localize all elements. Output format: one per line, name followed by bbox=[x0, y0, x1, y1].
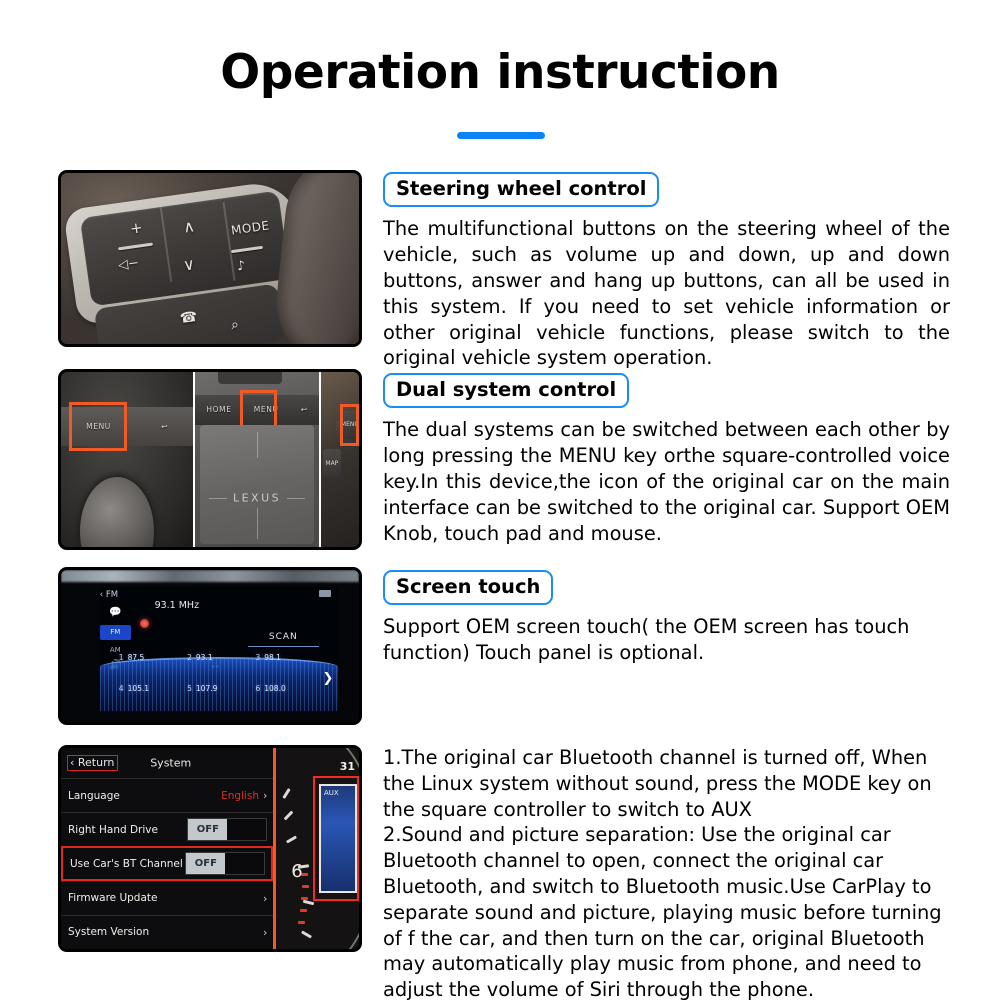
settings-row-system-version[interactable]: System Version › bbox=[61, 915, 273, 949]
section-body-steering-wheel: The multifunctional buttons on the steer… bbox=[383, 216, 950, 371]
phone-answer-icon: ☎ bbox=[179, 309, 199, 327]
touchpad-crosshair-right bbox=[287, 498, 305, 499]
page-title: Operation instruction bbox=[0, 45, 1000, 100]
bt-channel-toggle[interactable]: OFF bbox=[185, 852, 265, 875]
speech-icon[interactable]: 💬 bbox=[109, 608, 121, 618]
toggle-state-label: OFF bbox=[188, 819, 227, 840]
current-frequency: 93.1 MHz bbox=[155, 600, 200, 611]
tach-redline-tick bbox=[302, 885, 309, 888]
note-item-2: 2.Sound and picture separation: Use the … bbox=[383, 822, 950, 1003]
settings-menu-panel: ‹ Return System Language English › Right… bbox=[61, 748, 273, 949]
row-label: System Version bbox=[68, 926, 149, 938]
section-screen-touch: Screen touch Support OEM screen touch( t… bbox=[383, 570, 950, 666]
preset-frequency: 107.9 bbox=[196, 684, 217, 693]
settings-row-bt-channel[interactable]: Use Car's BT Channel OFF bbox=[61, 846, 273, 880]
touchpad-crosshair-left bbox=[209, 498, 227, 499]
preset-item: 293.1 bbox=[187, 653, 255, 662]
preset-grid[interactable]: 187.5 293.1 398.1 4105.1 5107.9 6108.0 bbox=[119, 642, 324, 704]
pane1-back-icon: ↩ bbox=[161, 422, 168, 431]
preset-item: 187.5 bbox=[119, 653, 187, 662]
touchpad-top-bezel bbox=[218, 372, 282, 384]
settings-row-firmware-update[interactable]: Firmware Update › bbox=[61, 881, 273, 915]
section-pill-dual-system: Dual system control bbox=[383, 373, 629, 408]
tach-redline-tick bbox=[301, 897, 308, 900]
home-button-label: HOME bbox=[206, 405, 231, 414]
menu-highlight-box-1 bbox=[69, 402, 127, 451]
dashboard-blur-strip bbox=[61, 570, 359, 582]
dual-system-pane-console: MAP MENU bbox=[321, 372, 359, 547]
menu-highlight-box-2 bbox=[240, 390, 277, 430]
row-value: English bbox=[221, 790, 259, 802]
photo-dual-system: MENU ↩ HOME MENU ↩ LEXUS bbox=[58, 369, 362, 550]
chevron-right-icon: › bbox=[263, 892, 267, 905]
section-bluetooth-notes: 1.The original car Bluetooth channel is … bbox=[383, 745, 950, 1003]
preset-item: 5107.9 bbox=[187, 684, 255, 693]
touchpad-crosshair-top bbox=[257, 432, 258, 458]
settings-header: ‹ Return System bbox=[61, 748, 273, 778]
preset-number: 3 bbox=[255, 653, 260, 662]
row-label: Right Hand Drive bbox=[68, 824, 158, 836]
preset-frequency: 108.0 bbox=[264, 684, 285, 693]
fm-back-label[interactable]: ‹ FM bbox=[100, 590, 118, 600]
settings-row-language[interactable]: Language English › bbox=[61, 778, 273, 812]
aux-highlight-box bbox=[313, 776, 359, 901]
preset-number: 1 bbox=[119, 653, 124, 662]
preset-frequency: 98.1 bbox=[264, 653, 281, 662]
preset-number: 5 bbox=[187, 684, 192, 693]
title-underline-rule bbox=[457, 132, 545, 139]
photo-screen-touch: ‹ FM 93.1 MHz 💬 FM AM 🔊 SCAN •• 187.5 29… bbox=[58, 567, 362, 725]
chevron-right-icon: › bbox=[263, 789, 267, 802]
map-button: MAP bbox=[323, 449, 341, 477]
chevron-right-icon: › bbox=[263, 926, 267, 939]
tuner-indicator-dot bbox=[140, 619, 149, 628]
preset-frequency: 87.5 bbox=[128, 653, 145, 662]
return-button[interactable]: ‹ Return bbox=[67, 755, 118, 771]
section-body-dual-system: The dual systems can be switched between… bbox=[383, 417, 950, 546]
volume-down-icon: ◁− bbox=[117, 255, 140, 273]
row-label: Firmware Update bbox=[68, 892, 158, 904]
lexus-brand-label: LEXUS bbox=[233, 492, 281, 505]
preset-number: 4 bbox=[119, 684, 124, 693]
tach-redline-tick bbox=[298, 921, 305, 924]
section-steering-wheel: Steering wheel control The multifunction… bbox=[383, 172, 950, 371]
dual-system-pane-knob: MENU ↩ bbox=[61, 372, 193, 547]
seek-down-chevron-icon: ∨ bbox=[182, 254, 196, 274]
preset-number: 2 bbox=[187, 653, 192, 662]
menu-highlight-box-3 bbox=[340, 404, 359, 446]
row-label: Use Car's BT Channel bbox=[70, 858, 183, 870]
section-pill-steering-wheel: Steering wheel control bbox=[383, 172, 659, 207]
seek-up-chevron-icon: ∧ bbox=[182, 217, 196, 237]
phone-hangup-icon: ⌕ bbox=[230, 316, 240, 333]
voice-command-icon: ♪ bbox=[236, 258, 246, 274]
section-dual-system: Dual system control The dual systems can… bbox=[383, 373, 950, 546]
back-button-icon: ↩ bbox=[301, 405, 308, 414]
section-pill-screen-touch: Screen touch bbox=[383, 570, 553, 605]
note-item-1: 1.The original car Bluetooth channel is … bbox=[383, 745, 950, 822]
instrument-cluster-panel: 6 31 AUX bbox=[273, 748, 359, 949]
right-hand-drive-toggle[interactable]: OFF bbox=[187, 818, 267, 841]
band-fm-button[interactable]: FM bbox=[100, 625, 131, 640]
tach-redline-tick bbox=[300, 909, 307, 912]
preset-number: 6 bbox=[255, 684, 260, 693]
status-badge bbox=[319, 590, 331, 597]
photo-steering-wheel: + ◁− ∧ ∨ MODE ♪ ☎ ⌕ bbox=[58, 170, 362, 347]
oem-control-knob bbox=[80, 477, 154, 547]
preset-item: 398.1 bbox=[255, 653, 323, 662]
oem-radio-screen[interactable]: ‹ FM 93.1 MHz 💬 FM AM 🔊 SCAN •• 187.5 29… bbox=[100, 587, 338, 712]
touchpad-crosshair-bottom bbox=[257, 508, 258, 539]
preset-item: 4105.1 bbox=[119, 684, 187, 693]
settings-title: System bbox=[150, 757, 191, 770]
dual-system-pane-touchpad: HOME MENU ↩ LEXUS bbox=[193, 372, 320, 547]
preset-frequency: 93.1 bbox=[196, 653, 213, 662]
toggle-state-label: OFF bbox=[186, 853, 225, 874]
preset-item: 6108.0 bbox=[255, 684, 323, 693]
photo-system-settings: ‹ Return System Language English › Right… bbox=[58, 745, 362, 952]
volume-up-icon: + bbox=[128, 218, 143, 238]
section-body-screen-touch: Support OEM screen touch( the OEM screen… bbox=[383, 614, 950, 666]
tach-rpm-label: 6 bbox=[291, 861, 302, 882]
next-page-arrow-icon[interactable]: ❯ bbox=[322, 671, 333, 686]
cluster-top-number: 31 bbox=[340, 760, 355, 773]
row-label: Language bbox=[68, 790, 120, 802]
section-body-bluetooth-notes: 1.The original car Bluetooth channel is … bbox=[383, 745, 950, 1003]
preset-frequency: 105.1 bbox=[128, 684, 149, 693]
settings-row-right-hand-drive[interactable]: Right Hand Drive OFF bbox=[61, 812, 273, 846]
lexus-touchpad-surface[interactable]: LEXUS bbox=[200, 425, 314, 544]
